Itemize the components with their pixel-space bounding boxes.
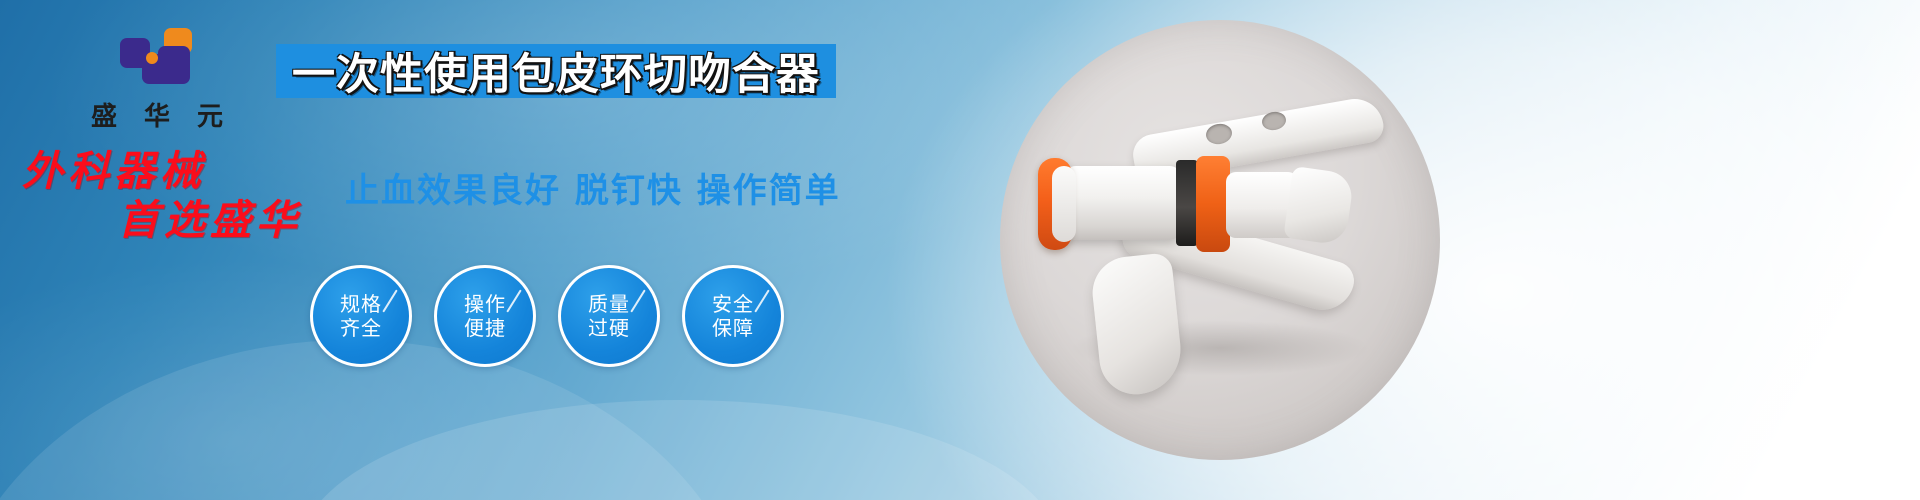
badge-line-1: 操作 [464, 292, 506, 316]
badge-line-2: 便捷 [464, 316, 506, 340]
stapler-orange-collar [1196, 156, 1230, 252]
badge-line-1: 质量 [588, 292, 630, 316]
product-photo-content [1000, 20, 1440, 460]
brand-logo[interactable]: 盛 华 元 [62, 28, 252, 133]
stapler-handle [1089, 252, 1185, 398]
feature-badge-quality[interactable]: 质量 过硬 [558, 265, 660, 367]
feature-badge-operation[interactable]: 操作 便捷 [434, 265, 536, 367]
feature-badge-specifications[interactable]: 规格 齐全 [310, 265, 412, 367]
calligraphy-line-2: 首选盛华 [22, 199, 352, 242]
product-photo [1000, 20, 1440, 460]
feature-badge-safety[interactable]: 安全 保障 [682, 265, 784, 367]
logo-square-orange-small [146, 52, 158, 64]
calligraphy-line-1: 外科器械 [22, 150, 352, 193]
background-wave-center [300, 400, 1060, 500]
calligraphy-slogan: 外科器械 首选盛华 [22, 150, 352, 241]
brand-name-text: 盛 华 元 [62, 96, 252, 133]
stapler-black-band [1176, 160, 1198, 246]
subtitle-text: 止血效果良好 脱钉快 操作简单 [345, 163, 841, 212]
logo-mark-icon [120, 28, 194, 90]
badge-line-2: 齐全 [340, 316, 382, 340]
badge-line-1: 安全 [712, 292, 754, 316]
main-title-text: 一次性使用包皮环切吻合器 [292, 40, 820, 102]
logo-square-purple-right [158, 46, 190, 84]
stapler-barrel [1062, 166, 1180, 240]
main-title-bar: 一次性使用包皮环切吻合器 [276, 44, 836, 98]
badge-line-2: 保障 [712, 316, 754, 340]
feature-badge-list: 规格 齐全 操作 便捷 质量 过硬 安全 保障 [310, 265, 784, 367]
stapler-cap-inner [1052, 166, 1076, 242]
stapler-head [1283, 166, 1354, 246]
badge-line-1: 规格 [340, 292, 382, 316]
product-banner: 盛 华 元 外科器械 首选盛华 一次性使用包皮环切吻合器 止血效果良好 脱钉快 … [0, 0, 1920, 500]
badge-line-2: 过硬 [588, 316, 630, 340]
